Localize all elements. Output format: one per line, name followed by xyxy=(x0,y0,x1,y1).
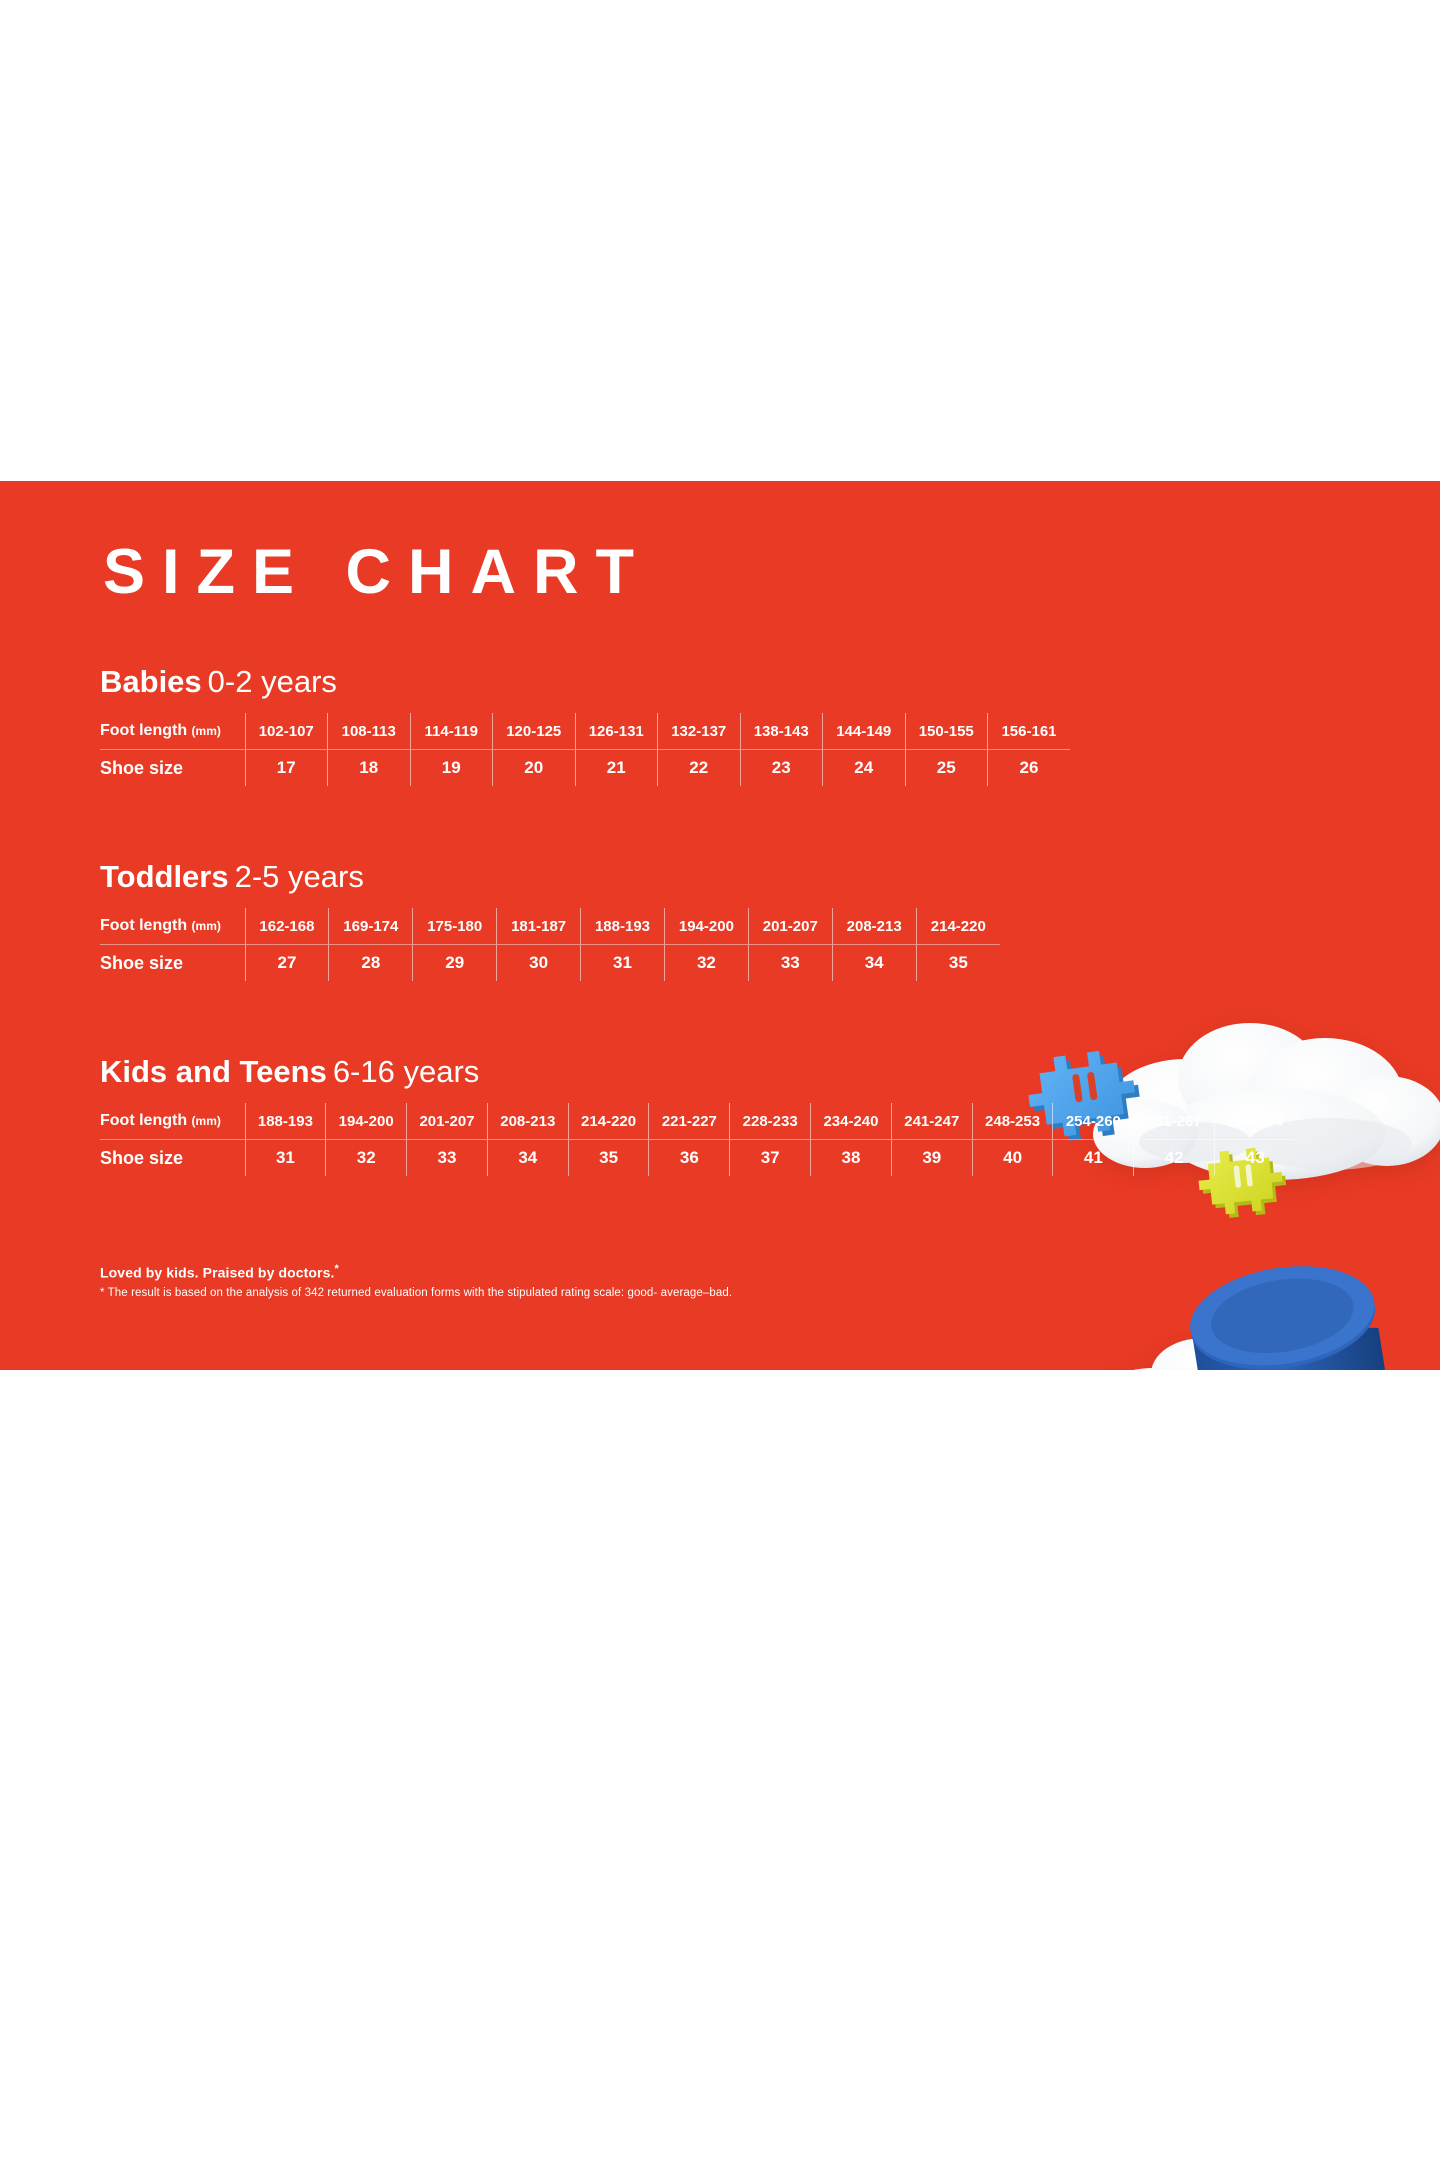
cell-foot-length: 208-213 xyxy=(487,1103,568,1140)
table-row: Shoe size 17 18 19 20 21 22 23 24 25 26 xyxy=(100,750,1070,787)
footer-claim-marker: * xyxy=(334,1263,338,1275)
cell-foot-length: 268-274 xyxy=(1215,1103,1296,1140)
poster-content: SIZE CHART Babies0-2 years Foot length (… xyxy=(0,481,1440,1370)
cell-foot-length: 254-260 xyxy=(1053,1103,1134,1140)
row-label-unit: (mm) xyxy=(192,724,221,738)
cell-foot-length: 214-220 xyxy=(916,908,1000,945)
cell-foot-length: 126-131 xyxy=(575,713,658,750)
footer-claim: Loved by kids. Praised by doctors.* xyxy=(100,1263,732,1281)
section-age-range: 6-16 years xyxy=(333,1054,479,1089)
cell-shoe-size: 40 xyxy=(972,1140,1053,1177)
cell-foot-length: 188-193 xyxy=(581,908,665,945)
cell-shoe-size: 42 xyxy=(1134,1140,1215,1177)
section-heading-babies: Babies0-2 years xyxy=(100,666,1070,697)
cell-shoe-size: 29 xyxy=(413,945,497,982)
size-table-toddlers: Foot length (mm) 162-168 169-174 175-180… xyxy=(100,908,1000,981)
table-row: Shoe size 27 28 29 30 31 32 33 34 35 xyxy=(100,945,1000,982)
section-group-name: Toddlers xyxy=(100,859,229,894)
row-label-shoe-size: Shoe size xyxy=(100,1140,245,1177)
row-label-unit: (mm) xyxy=(192,1114,221,1128)
cell-foot-length: 241-247 xyxy=(891,1103,972,1140)
cell-foot-length: 138-143 xyxy=(740,713,823,750)
cell-foot-length: 221-227 xyxy=(649,1103,730,1140)
cell-foot-length: 108-113 xyxy=(328,713,411,750)
cell-shoe-size: 37 xyxy=(730,1140,811,1177)
cell-shoe-size: 41 xyxy=(1053,1140,1134,1177)
row-label-unit: (mm) xyxy=(192,919,221,933)
row-label-shoe-size: Shoe size xyxy=(100,750,245,787)
cell-shoe-size: 36 xyxy=(649,1140,730,1177)
cell-shoe-size: 19 xyxy=(410,750,493,787)
section-age-range: 2-5 years xyxy=(235,859,364,894)
section-age-range: 0-2 years xyxy=(208,664,337,699)
cell-shoe-size: 32 xyxy=(664,945,748,982)
cell-shoe-size: 33 xyxy=(407,1140,488,1177)
cell-shoe-size: 28 xyxy=(329,945,413,982)
cell-shoe-size: 33 xyxy=(748,945,832,982)
cell-shoe-size: 30 xyxy=(497,945,581,982)
cell-foot-length: 194-200 xyxy=(326,1103,407,1140)
cell-shoe-size: 26 xyxy=(988,750,1071,787)
cell-foot-length: 150-155 xyxy=(905,713,988,750)
cell-foot-length: 175-180 xyxy=(413,908,497,945)
cell-shoe-size: 24 xyxy=(823,750,906,787)
cell-foot-length: 188-193 xyxy=(245,1103,326,1140)
table-row: Foot length (mm) 188-193 194-200 201-207… xyxy=(100,1103,1295,1140)
row-label-foot-length: Foot length (mm) xyxy=(100,713,245,750)
section-babies: Babies0-2 years Foot length (mm) 102-107… xyxy=(100,666,1070,786)
cell-foot-length: 120-125 xyxy=(493,713,576,750)
cell-shoe-size: 27 xyxy=(245,945,329,982)
size-table-kids-and-teens: Foot length (mm) 188-193 194-200 201-207… xyxy=(100,1103,1295,1176)
page-title: SIZE CHART xyxy=(103,541,651,604)
cell-foot-length: 162-168 xyxy=(245,908,329,945)
cell-shoe-size: 31 xyxy=(581,945,665,982)
cell-foot-length: 201-207 xyxy=(407,1103,488,1140)
cell-foot-length: 234-240 xyxy=(811,1103,892,1140)
table-row: Shoe size 31 32 33 34 35 36 37 38 39 40 … xyxy=(100,1140,1295,1177)
cell-shoe-size: 23 xyxy=(740,750,823,787)
cell-shoe-size: 34 xyxy=(487,1140,568,1177)
cell-foot-length: 114-119 xyxy=(410,713,493,750)
footer-disclaimer: * The result is based on the analysis of… xyxy=(100,1287,732,1299)
cell-shoe-size: 39 xyxy=(891,1140,972,1177)
cell-shoe-size: 35 xyxy=(916,945,1000,982)
cell-shoe-size: 32 xyxy=(326,1140,407,1177)
size-chart-poster: SIZE CHART Babies0-2 years Foot length (… xyxy=(0,481,1440,1370)
row-label-foot-length: Foot length (mm) xyxy=(100,908,245,945)
footer: Loved by kids. Praised by doctors.* * Th… xyxy=(100,1263,732,1299)
row-label-text: Foot length xyxy=(100,1112,187,1129)
cell-foot-length: 201-207 xyxy=(748,908,832,945)
cell-shoe-size: 34 xyxy=(832,945,916,982)
cell-foot-length: 156-161 xyxy=(988,713,1071,750)
cell-shoe-size: 20 xyxy=(493,750,576,787)
cell-foot-length: 194-200 xyxy=(664,908,748,945)
cell-foot-length: 181-187 xyxy=(497,908,581,945)
cell-shoe-size: 17 xyxy=(245,750,328,787)
cell-foot-length: 208-213 xyxy=(832,908,916,945)
cell-foot-length: 248-253 xyxy=(972,1103,1053,1140)
row-label-text: Foot length xyxy=(100,722,187,739)
cell-foot-length: 144-149 xyxy=(823,713,906,750)
section-group-name: Kids and Teens xyxy=(100,1054,327,1089)
section-toddlers: Toddlers2-5 years Foot length (mm) 162-1… xyxy=(100,861,1000,981)
section-heading-kids-and-teens: Kids and Teens6-16 years xyxy=(100,1056,1295,1087)
section-group-name: Babies xyxy=(100,664,202,699)
table-row: Foot length (mm) 102-107 108-113 114-119… xyxy=(100,713,1070,750)
cell-shoe-size: 22 xyxy=(658,750,741,787)
row-label-text: Foot length xyxy=(100,917,187,934)
section-heading-toddlers: Toddlers2-5 years xyxy=(100,861,1000,892)
cell-shoe-size: 31 xyxy=(245,1140,326,1177)
cell-foot-length: 214-220 xyxy=(568,1103,649,1140)
section-kids-and-teens: Kids and Teens6-16 years Foot length (mm… xyxy=(100,1056,1295,1176)
size-table-babies: Foot length (mm) 102-107 108-113 114-119… xyxy=(100,713,1070,786)
cell-shoe-size: 43 xyxy=(1215,1140,1296,1177)
cell-shoe-size: 38 xyxy=(811,1140,892,1177)
cell-foot-length: 132-137 xyxy=(658,713,741,750)
cell-foot-length: 228-233 xyxy=(730,1103,811,1140)
cell-foot-length: 102-107 xyxy=(245,713,328,750)
cell-shoe-size: 18 xyxy=(328,750,411,787)
cell-shoe-size: 21 xyxy=(575,750,658,787)
cell-shoe-size: 35 xyxy=(568,1140,649,1177)
footer-claim-text: Loved by kids. Praised by doctors. xyxy=(100,1265,334,1281)
cell-shoe-size: 25 xyxy=(905,750,988,787)
cell-foot-length: 261-267 xyxy=(1134,1103,1215,1140)
cell-foot-length: 169-174 xyxy=(329,908,413,945)
row-label-shoe-size: Shoe size xyxy=(100,945,245,982)
table-row: Foot length (mm) 162-168 169-174 175-180… xyxy=(100,908,1000,945)
row-label-foot-length: Foot length (mm) xyxy=(100,1103,245,1140)
